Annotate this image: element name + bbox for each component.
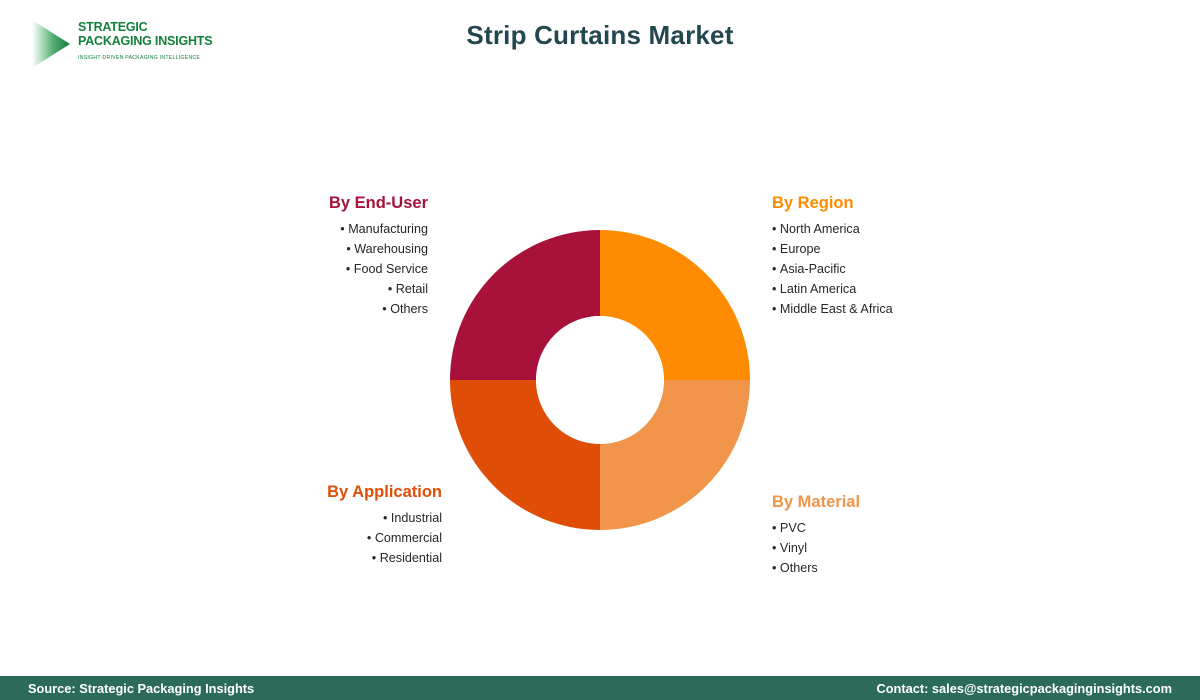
list-item: Commercial bbox=[327, 528, 442, 548]
list-item: Food Service bbox=[329, 259, 428, 279]
footer-bar: Source: Strategic Packaging Insights Con… bbox=[0, 676, 1200, 700]
list-item: Manufacturing bbox=[329, 219, 428, 239]
list-item: Europe bbox=[772, 239, 893, 259]
donut-hole bbox=[536, 316, 664, 444]
category-title-application: By Application bbox=[327, 482, 442, 502]
list-item: Others bbox=[329, 299, 428, 319]
list-item: North America bbox=[772, 219, 893, 239]
category-list-material: PVC Vinyl Others bbox=[772, 518, 860, 578]
category-block-region: By Region North America Europe Asia-Paci… bbox=[772, 193, 893, 319]
list-item: Retail bbox=[329, 279, 428, 299]
category-block-end-user: By End-User Manufacturing Warehousing Fo… bbox=[329, 193, 428, 319]
list-item: Middle East & Africa bbox=[772, 299, 893, 319]
list-item: Industrial bbox=[327, 508, 442, 528]
footer-source: Source: Strategic Packaging Insights bbox=[28, 681, 254, 696]
list-item: Residential bbox=[327, 548, 442, 568]
infographic-canvas: STRATEGIC PACKAGING INSIGHTS INSIGHT-DRI… bbox=[0, 0, 1200, 700]
list-item: Vinyl bbox=[772, 538, 860, 558]
category-block-material: By Material PVC Vinyl Others bbox=[772, 492, 860, 578]
category-list-end-user: Manufacturing Warehousing Food Service R… bbox=[329, 219, 428, 319]
list-item: Others bbox=[772, 558, 860, 578]
list-item: Asia-Pacific bbox=[772, 259, 893, 279]
brand-tagline: INSIGHT-DRIVEN PACKAGING INTELLIGENCE bbox=[78, 55, 213, 61]
category-title-region: By Region bbox=[772, 193, 893, 213]
list-item: Warehousing bbox=[329, 239, 428, 259]
list-item: PVC bbox=[772, 518, 860, 538]
category-title-material: By Material bbox=[772, 492, 860, 512]
footer-contact: Contact: sales@strategicpackaginginsight… bbox=[876, 681, 1172, 696]
list-item: Latin America bbox=[772, 279, 893, 299]
page-title: Strip Curtains Market bbox=[0, 20, 1200, 51]
category-list-application: Industrial Commercial Residential bbox=[327, 508, 442, 568]
donut-chart bbox=[450, 230, 750, 530]
category-title-end-user: By End-User bbox=[329, 193, 428, 213]
category-list-region: North America Europe Asia-Pacific Latin … bbox=[772, 219, 893, 319]
category-block-application: By Application Industrial Commercial Res… bbox=[327, 482, 442, 568]
